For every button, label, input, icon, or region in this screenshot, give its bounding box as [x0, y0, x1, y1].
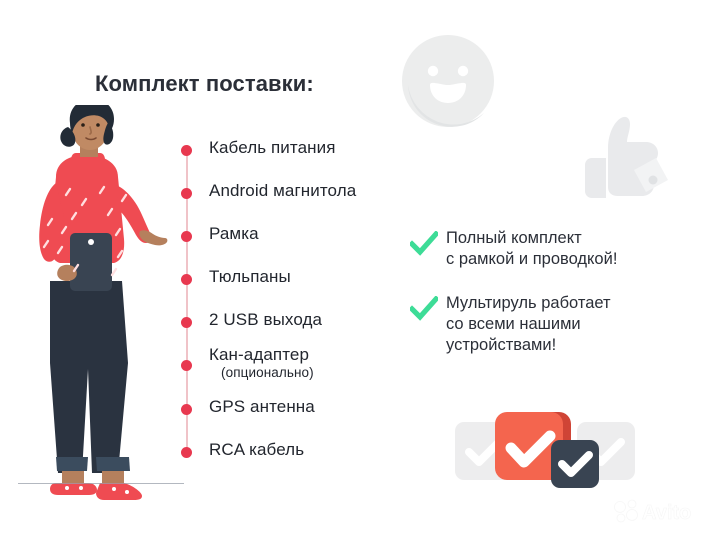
benefit-text: Мультируль работает со всеми нашими устр…	[446, 293, 611, 356]
benefit-text: Полный комплект с рамкой и проводкой!	[446, 228, 617, 270]
red-bullet-icon	[181, 274, 192, 285]
benefit-line: Мультируль работает	[446, 293, 611, 314]
red-bullet-icon	[181, 404, 192, 415]
red-bullet-icon	[181, 447, 192, 458]
list-item-label: RCA кабель	[209, 440, 304, 460]
avito-wordmark: Avito	[642, 502, 691, 524]
benefit-line: со всеми нашими	[446, 314, 611, 335]
green-check-icon	[410, 231, 438, 257]
supply-list: Кабель питания Android магнитола Рамка Т…	[176, 130, 436, 470]
list-item-label: Рамка	[209, 224, 259, 244]
red-bullet-icon	[181, 231, 192, 242]
red-bullet-icon	[181, 317, 192, 328]
list-item-label: 2 USB выхода	[209, 310, 322, 330]
list-item-label: Android магнитола	[209, 181, 356, 201]
avito-watermark: Avito	[612, 497, 708, 525]
list-item-label: Тюльпаны	[209, 267, 291, 287]
thumbs-up-icon	[568, 108, 672, 212]
red-bullet-icon	[181, 188, 192, 199]
list-item-label: GPS антенна	[209, 397, 315, 417]
benefit-line: устройствами!	[446, 335, 611, 356]
list-item-sublabel: (опционально)	[221, 365, 314, 380]
woman-pointing-illustration	[12, 105, 180, 505]
ground-line	[18, 483, 184, 484]
promo-image: Комплект поставки: Кабель питания Androi…	[0, 0, 720, 540]
benefit-line: с рамкой и проводкой!	[446, 249, 617, 270]
smiley-face-icon	[400, 33, 496, 129]
green-check-icon	[410, 296, 438, 322]
checkbox-cluster-icon	[455, 402, 635, 498]
benefit-line: Полный комплект	[446, 228, 617, 249]
red-bullet-icon	[181, 145, 192, 156]
red-bullet-icon	[181, 360, 192, 371]
list-item-label: Кан-адаптер	[209, 345, 309, 365]
page-title: Комплект поставки:	[95, 71, 314, 97]
list-item-label: Кабель питания	[209, 138, 336, 158]
